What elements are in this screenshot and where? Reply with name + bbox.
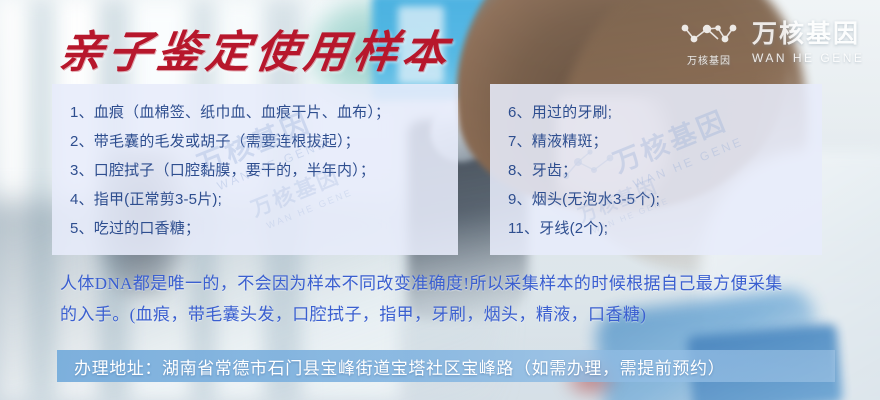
logo-wordmark: 万核基因 WAN HE GENE bbox=[752, 22, 864, 64]
logo-mark-label: 万核基因 bbox=[687, 52, 731, 67]
logo-mark: 万核基因 bbox=[678, 20, 740, 67]
sample-list-left: 1、血痕（血棉签、纸巾血、血痕干片、血布）； 2、带毛囊的毛发或胡子（需要连根拔… bbox=[70, 98, 442, 243]
list-item: 9、烟头(无泡水3-5个); bbox=[508, 185, 806, 214]
address-text: 办理地址：湖南省常德市石门县宝峰街道宝塔社区宝峰路（如需办理，需提前预约） bbox=[57, 354, 725, 379]
address-bar: 办理地址：湖南省常德市石门县宝峰街道宝塔社区宝峰路（如需办理，需提前预约） bbox=[57, 350, 835, 382]
watermark-molecule-icon bbox=[560, 148, 632, 193]
list-item: 3、口腔拭子（口腔黏膜，要干的，半年内）； bbox=[70, 156, 442, 185]
list-item: 5、吃过的口香糖； bbox=[70, 214, 442, 243]
paragraph-line-1: 人体DNA都是唯一的，不会因为样本不同改变准确度!所以采集样本的时候根据自己最方… bbox=[60, 268, 850, 299]
sample-list-panel-right: 6、用过的牙刷; 7、精液精斑； 8、牙齿； 9、烟头(无泡水3-5个); 11… bbox=[490, 84, 822, 255]
paragraph-line-2: 的入手。(血痕，带毛囊头发，口腔拭子，指甲，牙刷，烟头，精液，口香糖) bbox=[60, 299, 850, 330]
brand-logo: 万核基因 万核基因 WAN HE GENE bbox=[678, 14, 868, 72]
description-paragraph: 人体DNA都是唯一的，不会因为样本不同改变准确度!所以采集样本的时候根据自己最方… bbox=[60, 268, 850, 330]
molecule-network-icon bbox=[680, 20, 738, 50]
list-item: 1、血痕（血棉签、纸巾血、血痕干片、血布）； bbox=[70, 98, 442, 127]
logo-name-cn: 万核基因 bbox=[752, 22, 864, 47]
list-item: 11、牙线(2个); bbox=[508, 214, 806, 243]
list-item: 4、指甲(正常剪3-5片); bbox=[70, 185, 442, 214]
sample-list-right: 6、用过的牙刷; 7、精液精斑； 8、牙齿； 9、烟头(无泡水3-5个); 11… bbox=[508, 98, 806, 243]
list-item: 2、带毛囊的毛发或胡子（需要连根拔起）； bbox=[70, 127, 442, 156]
list-item: 8、牙齿； bbox=[508, 156, 806, 185]
page-title: 亲子鉴定使用样本 bbox=[56, 16, 457, 80]
sample-list-panel-left: 1、血痕（血棉签、纸巾血、血痕干片、血布）； 2、带毛囊的毛发或胡子（需要连根拔… bbox=[52, 84, 458, 255]
logo-name-en: WAN HE GENE bbox=[752, 52, 864, 64]
list-item: 6、用过的牙刷; bbox=[508, 98, 806, 127]
poster-root: 万核基因 万核基因 WAN HE GENE 亲子鉴定使用样本 1、血痕（血棉签、… bbox=[0, 0, 880, 400]
list-item: 7、精液精斑； bbox=[508, 127, 806, 156]
